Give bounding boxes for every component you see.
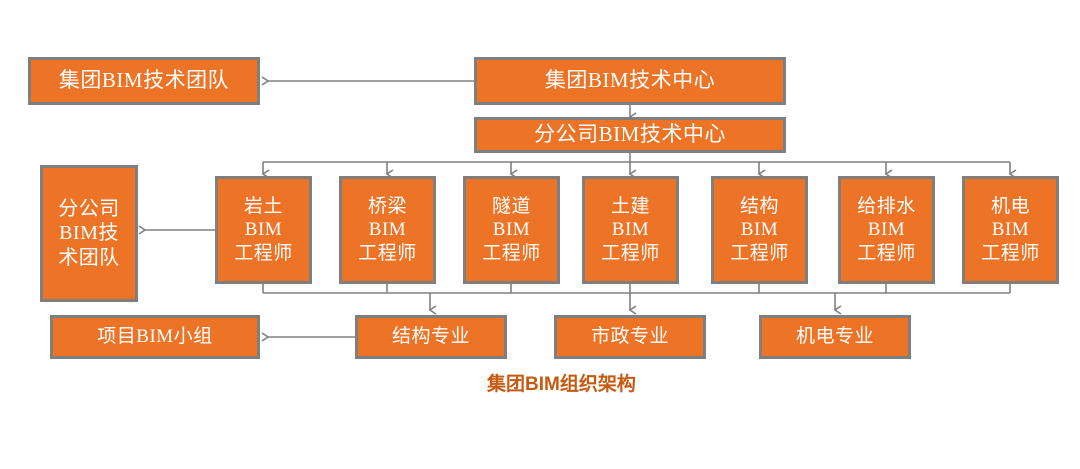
node-group-bim-center[interactable]: 集团BIM技术中心 [474,57,786,105]
node-engineer-4-label: 结构 BIM 工程师 [730,195,789,265]
org-chart-diagram: 集团BIM技术团队 集团BIM技术中心 分公司BIM技术中心 分公司 BIM技 … [0,0,1080,469]
node-engineer-4[interactable]: 结构 BIM 工程师 [711,176,808,284]
node-engineer-0-label: 岩土 BIM 工程师 [234,195,293,265]
node-engineer-0[interactable]: 岩土 BIM 工程师 [215,176,312,284]
node-branch-bim-team[interactable]: 分公司 BIM技 术团队 [40,165,138,302]
node-engineer-1[interactable]: 桥梁 BIM 工程师 [339,176,436,284]
diagram-caption: 集团BIM组织架构 [487,369,636,396]
node-specialty-1-label: 市政专业 [591,325,669,348]
node-engineer-1-label: 桥梁 BIM 工程师 [358,195,417,265]
node-project-bim-group-label: 项目BIM小组 [97,325,212,348]
node-specialty-0-label: 结构专业 [392,325,470,348]
node-engineer-6[interactable]: 机电 BIM 工程师 [962,176,1059,284]
node-engineer-5-label: 给排水 BIM 工程师 [857,195,916,265]
node-branch-bim-center[interactable]: 分公司BIM技术中心 [474,117,786,153]
node-group-bim-team-label: 集团BIM技术团队 [59,68,229,94]
node-specialty-0[interactable]: 结构专业 [355,315,507,359]
node-project-bim-group[interactable]: 项目BIM小组 [50,315,260,359]
node-specialty-1[interactable]: 市政专业 [554,315,706,359]
node-group-bim-team[interactable]: 集团BIM技术团队 [28,57,260,105]
node-branch-bim-center-label: 分公司BIM技术中心 [534,122,726,148]
node-engineer-6-label: 机电 BIM 工程师 [981,195,1040,265]
node-engineer-2[interactable]: 隧道 BIM 工程师 [463,176,560,284]
node-group-bim-center-label: 集团BIM技术中心 [545,68,715,94]
node-engineer-5[interactable]: 给排水 BIM 工程师 [838,176,935,284]
node-engineer-3-label: 土建 BIM 工程师 [601,195,660,265]
node-specialty-2[interactable]: 机电专业 [759,315,911,359]
node-engineer-2-label: 隧道 BIM 工程师 [482,195,541,265]
node-branch-bim-team-label: 分公司 BIM技 术团队 [58,197,120,270]
node-engineer-3[interactable]: 土建 BIM 工程师 [582,176,679,284]
node-specialty-2-label: 机电专业 [796,325,874,348]
